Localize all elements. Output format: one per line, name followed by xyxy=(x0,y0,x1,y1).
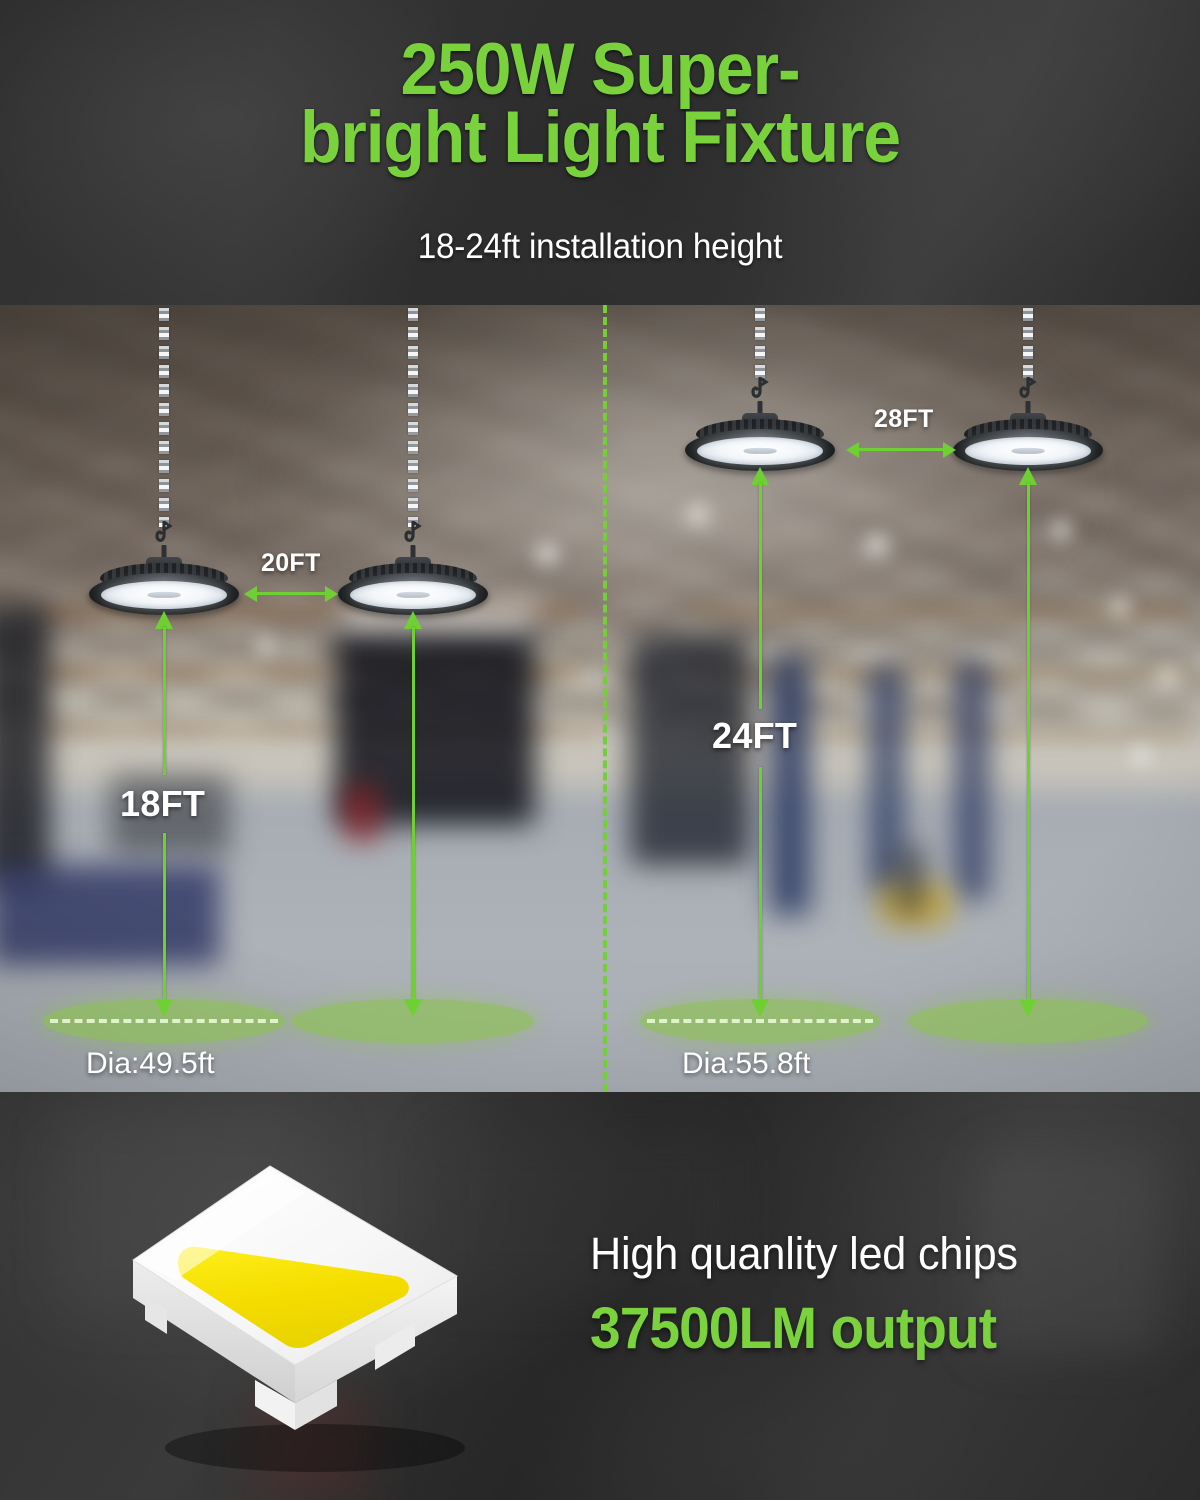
header-banner: 250W Super- bright Light Fixture 18-24ft… xyxy=(0,0,1200,305)
machine-shadow xyxy=(895,845,925,915)
fixture-lens xyxy=(101,581,227,609)
equipment-column xyxy=(770,655,810,915)
s-hook-icon xyxy=(749,377,771,403)
page-subtitle: 18-24ft installation height xyxy=(30,227,1170,267)
spacing-label-right: 28FT xyxy=(874,405,934,434)
fixture-lens xyxy=(350,581,476,609)
led-chip-svg xyxy=(105,1148,505,1488)
product-infographic: 250W Super- bright Light Fixture 18-24ft… xyxy=(0,0,1200,1500)
hanging-chain xyxy=(159,305,169,527)
spacing-arrow-line xyxy=(253,592,325,595)
height-label-right: 24FT xyxy=(712,715,797,757)
height-arrow-line xyxy=(412,627,415,999)
ceiling-light-dot xyxy=(252,635,278,657)
wall-shelf-band xyxy=(690,667,1190,681)
arrow-head-right-icon xyxy=(325,586,338,602)
ceiling-light-dot xyxy=(1106,595,1134,619)
equipment-column xyxy=(955,660,989,900)
hanging-chain xyxy=(1023,305,1033,383)
led-chip-image xyxy=(105,1148,505,1488)
red-accent xyxy=(345,785,379,841)
ceiling-light-dot xyxy=(1155,665,1181,687)
section-divider xyxy=(603,305,607,1092)
arrow-head-down-icon xyxy=(751,999,769,1017)
s-hook-icon xyxy=(402,521,424,547)
page-title: 250W Super- bright Light Fixture xyxy=(42,36,1158,172)
arrow-head-left-icon xyxy=(244,586,257,602)
s-hook-icon xyxy=(1017,377,1039,403)
height-arrow-line-upper xyxy=(163,627,166,775)
led-lumen-output: 37500LM output xyxy=(590,1295,996,1362)
fixture-lens xyxy=(697,437,823,465)
beam-diameter-label-left: Dia:49.5ft xyxy=(86,1047,214,1081)
beam-diameter-dashed-line xyxy=(50,1019,278,1023)
hanging-chain xyxy=(755,305,765,383)
arrow-head-down-icon xyxy=(1019,999,1037,1017)
ceiling-light-dot xyxy=(860,531,894,559)
fixture-lens xyxy=(965,437,1091,465)
s-hook-icon xyxy=(153,521,175,547)
height-arrow-line xyxy=(1027,483,1030,999)
pallet-blue xyxy=(0,865,220,965)
beam-diameter-label-right: Dia:55.8ft xyxy=(682,1047,810,1081)
ceiling-light-dot xyxy=(530,540,564,568)
ceiling-light-dot xyxy=(1046,517,1076,543)
ceiling-light-dot xyxy=(1128,745,1154,767)
height-arrow-line-upper xyxy=(759,483,762,709)
spacing-label-left: 20FT xyxy=(261,549,321,578)
arrow-head-right-icon xyxy=(943,442,956,458)
hanging-chain xyxy=(408,305,418,527)
led-chip-headline: High quanlity led chips xyxy=(590,1228,1018,1280)
height-label-left: 18FT xyxy=(120,783,205,825)
spacing-arrow-line xyxy=(855,448,943,451)
height-arrow-line-lower xyxy=(163,833,166,999)
arrow-head-down-icon xyxy=(404,999,422,1017)
arrow-head-left-icon xyxy=(846,442,859,458)
installation-diagram: 20FT 18FT Dia:49.5ft xyxy=(0,305,1200,1092)
arrow-head-down-icon xyxy=(155,999,173,1017)
height-arrow-line-lower xyxy=(759,767,762,999)
ceiling-light-dot xyxy=(683,501,713,527)
chip-shadow xyxy=(165,1424,465,1472)
doorway-shadow xyxy=(0,605,50,885)
beam-diameter-dashed-line xyxy=(647,1019,873,1023)
